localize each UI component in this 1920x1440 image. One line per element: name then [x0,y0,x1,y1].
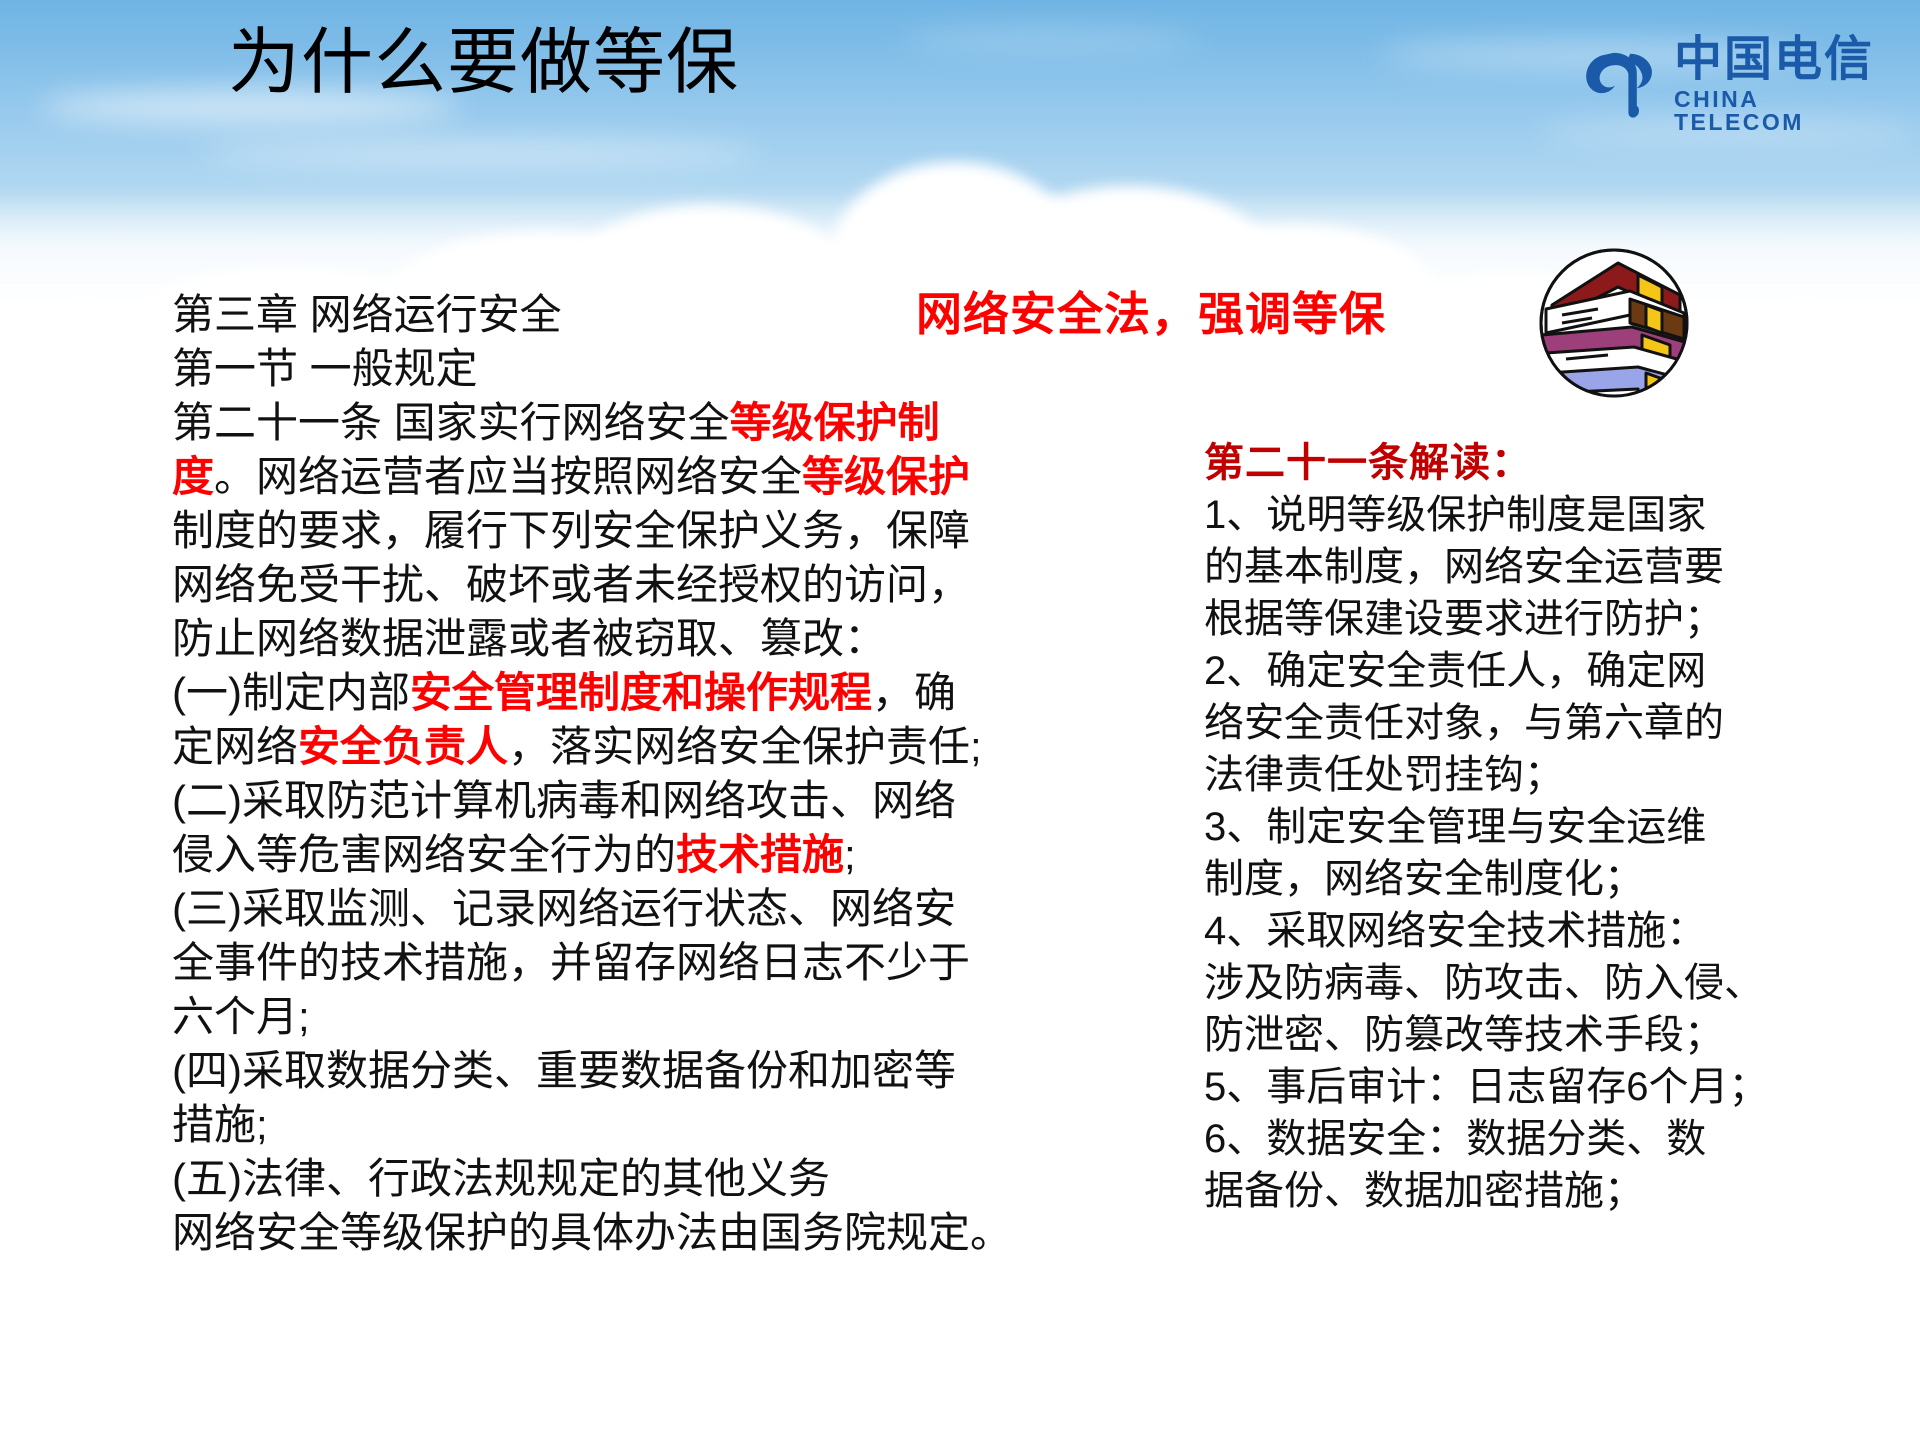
text-run: (三)采取监测、记录网络运行状态、网络安 [172,885,956,932]
interpretation-line: 1、说明等级保护制度是国家 [1204,489,1920,541]
text-run: ; [844,831,856,878]
interpretation-block: 第二十一条解读： 1、说明等级保护制度是国家的基本制度，网络安全运营要根据等保建… [1204,437,1920,1217]
china-telecom-swirl-icon [1578,42,1662,126]
law-text-line: 第一节 一般规定 [172,342,1122,396]
text-run: 全事件的技术措施，并留存网络日志不少于 [172,939,970,986]
interpretation-line: 6、数据安全：数据分类、数 [1204,1113,1920,1165]
interpretation-line: 制度，网络安全制度化； [1204,853,1920,905]
interpretation-line: 防泄密、防篡改等技术手段； [1204,1009,1920,1061]
brand-name-en: CHINA TELECOM [1674,88,1878,134]
text-run: (四)采取数据分类、重要数据备份和加密等 [172,1047,956,1094]
text-run: 制度的要求，履行下列安全保护义务，保障 [172,507,970,554]
highlighted-term: 等级保护 [802,453,970,500]
text-run: 定网络 [172,723,298,770]
text-run: 。网络运营者应当按照网络安全 [214,453,802,500]
law-text-line: (二)采取防范计算机病毒和网络攻击、网络 [172,774,1122,828]
law-text-line: 第三章 网络运行安全 [172,288,1122,342]
law-text-line: 度。网络运营者应当按照网络安全等级保护 [172,450,1122,504]
highlighted-term: 安全负责人 [298,723,508,770]
law-text-line: 制度的要求，履行下列安全保护义务，保障 [172,504,1122,558]
law-text-line: (四)采取数据分类、重要数据备份和加密等 [172,1044,1122,1098]
text-run: (一)制定内部 [172,669,410,716]
interpretation-line: 2、确定安全责任人，确定网 [1204,645,1920,697]
text-run: (五)法律、行政法规规定的其他义务 [172,1155,830,1202]
highlighted-term: 技术措施 [676,831,844,878]
law-text-line: (三)采取监测、记录网络运行状态、网络安 [172,882,1122,936]
law-text-block: 第三章 网络运行安全第一节 一般规定第二十一条 国家实行网络安全等级保护制度。网… [172,288,1122,1260]
law-text-line: 网络安全等级保护的具体办法由国务院规定。 [172,1206,1122,1260]
law-text-line: 第二十一条 国家实行网络安全等级保护制 [172,396,1122,450]
text-run: ，确 [872,669,956,716]
interpretation-line: 法律责任处罚挂钩； [1204,749,1920,801]
highlighted-term: 安全管理制度和操作规程 [410,669,872,716]
text-run: 措施; [172,1101,268,1148]
interpretation-line: 络安全责任对象，与第六章的 [1204,697,1920,749]
law-text-line: 六个月; [172,990,1122,1044]
interpretation-line: 据备份、数据加密措施； [1204,1165,1920,1217]
interpretation-line: 4、采取网络安全技术措施： [1204,905,1920,957]
cloud-wisp [200,140,760,166]
slide-canvas: 为什么要做等保 中国电信 CHINA TELECOM 网络安全法，强调等保 [0,0,1920,1440]
text-run: (二)采取防范计算机病毒和网络攻击、网络 [172,777,956,824]
page-title: 为什么要做等保 [228,24,739,103]
text-run: 第一节 一般规定 [172,345,478,392]
law-text-line: 侵入等危害网络安全行为的技术措施; [172,828,1122,882]
text-run: 第三章 网络运行安全 [172,291,562,338]
law-text-line: 全事件的技术措施，并留存网络日志不少于 [172,936,1122,990]
interpretation-line: 根据等保建设要求进行防护； [1204,593,1920,645]
text-run: 网络安全等级保护的具体办法由国务院规定。 [172,1209,1012,1256]
law-text-line: (五)法律、行政法规规定的其他义务 [172,1152,1122,1206]
text-run: ，落实网络安全保护责任; [508,723,982,770]
highlighted-term: 度 [172,453,214,500]
law-text-line: 措施; [172,1098,1122,1152]
interpretation-line: 涉及防病毒、防攻击、防入侵、 [1204,957,1920,1009]
china-telecom-logo: 中国电信 CHINA TELECOM [1578,38,1878,130]
brand-name-cn: 中国电信 [1674,35,1878,83]
text-run: 六个月; [172,993,310,1040]
law-text-line: 定网络安全负责人，落实网络安全保护责任; [172,720,1122,774]
highlighted-term: 等级保护制 [730,399,940,446]
text-run: 防止网络数据泄露或者被窃取、篡改： [172,615,886,662]
law-text-line: 网络免受干扰、破坏或者未经授权的访问， [172,558,1122,612]
interpretation-line: 3、制定安全管理与安全运维 [1204,801,1920,853]
text-run: 侵入等危害网络安全行为的 [172,831,676,878]
interpretation-heading: 第二十一条解读： [1204,437,1920,489]
law-text-line: (一)制定内部安全管理制度和操作规程，确 [172,666,1122,720]
stack-of-books-icon [1534,243,1694,403]
cloud-wisp [900,30,1200,50]
text-run: 第二十一条 国家实行网络安全 [172,399,730,446]
text-run: 网络免受干扰、破坏或者未经授权的访问， [172,561,970,608]
law-text-line: 防止网络数据泄露或者被窃取、篡改： [172,612,1122,666]
brand-text: 中国电信 CHINA TELECOM [1674,35,1878,134]
interpretation-line: 5、事后审计：日志留存6个月； [1204,1061,1920,1113]
interpretation-line: 的基本制度，网络安全运营要 [1204,541,1920,593]
